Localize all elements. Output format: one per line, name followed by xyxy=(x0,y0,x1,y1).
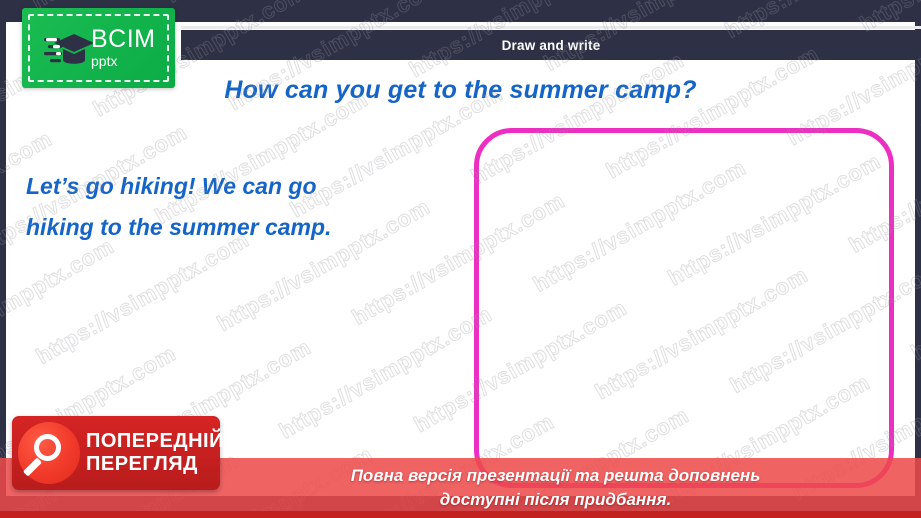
promo-line-1: Повна версія презентації та решта доповн… xyxy=(216,464,896,488)
slide-body-line-1: Let’s go hiking! We can go xyxy=(26,166,446,207)
slide-header-title: Draw and write xyxy=(502,38,601,53)
promo-message: Повна версія презентації та решта доповн… xyxy=(216,464,896,512)
watermark-text: https://vsimpptx.com xyxy=(161,0,382,7)
drawing-answer-box[interactable] xyxy=(474,128,894,488)
header-underline xyxy=(181,26,921,29)
preview-badge[interactable]: ПОПЕРЕДНІЙ ПЕРЕГЛЯД xyxy=(12,416,220,490)
preview-badge-line-2: ПЕРЕГЛЯД xyxy=(86,453,224,476)
presentation-window: How can you get to the summer camp? Let’… xyxy=(0,0,921,518)
promo-bottom-strip xyxy=(0,511,921,518)
watermark-text: https://vsimpptx.com xyxy=(917,1,921,143)
promo-line-2: доступні після придбання. xyxy=(216,488,896,512)
preview-badge-labels: ПОПЕРЕДНІЙ ПЕРЕГЛЯД xyxy=(86,430,224,476)
slide-body-line-2: hiking to the summer camp. xyxy=(26,207,446,248)
slide-body-text: Let’s go hiking! We can go hiking to the… xyxy=(26,166,446,248)
preview-badge-line-1: ПОПЕРЕДНІЙ xyxy=(86,430,224,453)
logo-brand-text: BCIM xyxy=(91,26,169,52)
slide-header-bar: Draw and write xyxy=(181,30,921,60)
magnifier-lens xyxy=(34,434,61,461)
brand-logo[interactable]: BCIM pptx xyxy=(22,8,175,88)
graduation-cap-icon xyxy=(44,30,96,70)
magnifier-icon xyxy=(18,422,80,484)
logo-suffix-text: pptx xyxy=(91,53,169,69)
magnifier-handle xyxy=(23,457,42,476)
logo-wordmark: BCIM pptx xyxy=(91,26,169,69)
